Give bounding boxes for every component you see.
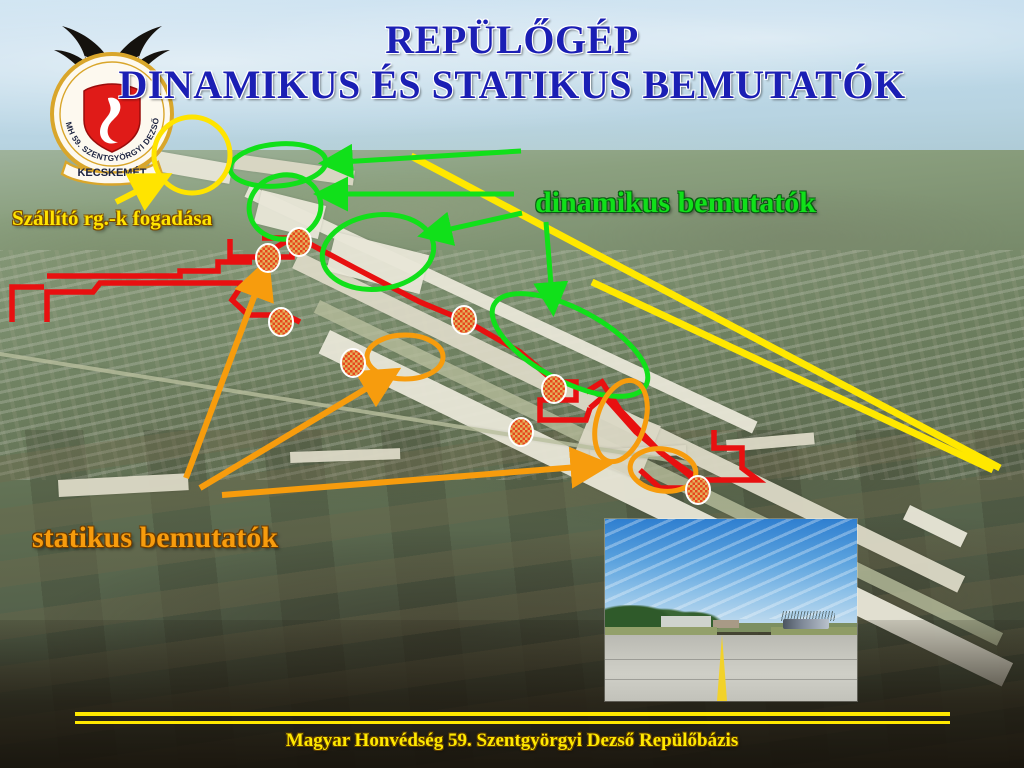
footer-text: Magyar Honvédség 59. Szentgyörgyi Dezső … — [0, 730, 1024, 752]
page-title: REPÜLŐGÉP DINAMIKUS ÉS STATIKUS BEMUTATÓ… — [0, 18, 1024, 106]
inset-centerline-marking — [717, 635, 727, 701]
inset-pavement-joint — [605, 679, 857, 680]
inset-parked-aircraft — [783, 619, 829, 629]
inset-cirrus-clouds — [605, 519, 857, 619]
footer-rule-bottom — [75, 721, 950, 724]
presentation-slide: MH 59. SZENTGYÖRGYI DEZSŐ REPÜLŐBÁZIS KE… — [0, 0, 1024, 768]
emblem-banner-text: KECSKEMÉT — [77, 166, 146, 179]
title-line-1: REPÜLŐGÉP — [385, 17, 638, 62]
inset-runway-photo[interactable] — [605, 519, 857, 701]
static-display-label: statikus bemutatók — [32, 521, 278, 555]
footer-rule-top — [75, 712, 950, 716]
transport-reception-label: Szállító rg.-k fogadása — [12, 206, 212, 231]
dynamic-display-label: dinamikus bemutatók — [535, 186, 816, 220]
inset-runway-pavement — [605, 635, 857, 701]
title-line-2: DINAMIKUS ÉS STATIKUS BEMUTATÓK — [0, 63, 1024, 106]
inset-pavement-joint — [605, 659, 857, 660]
